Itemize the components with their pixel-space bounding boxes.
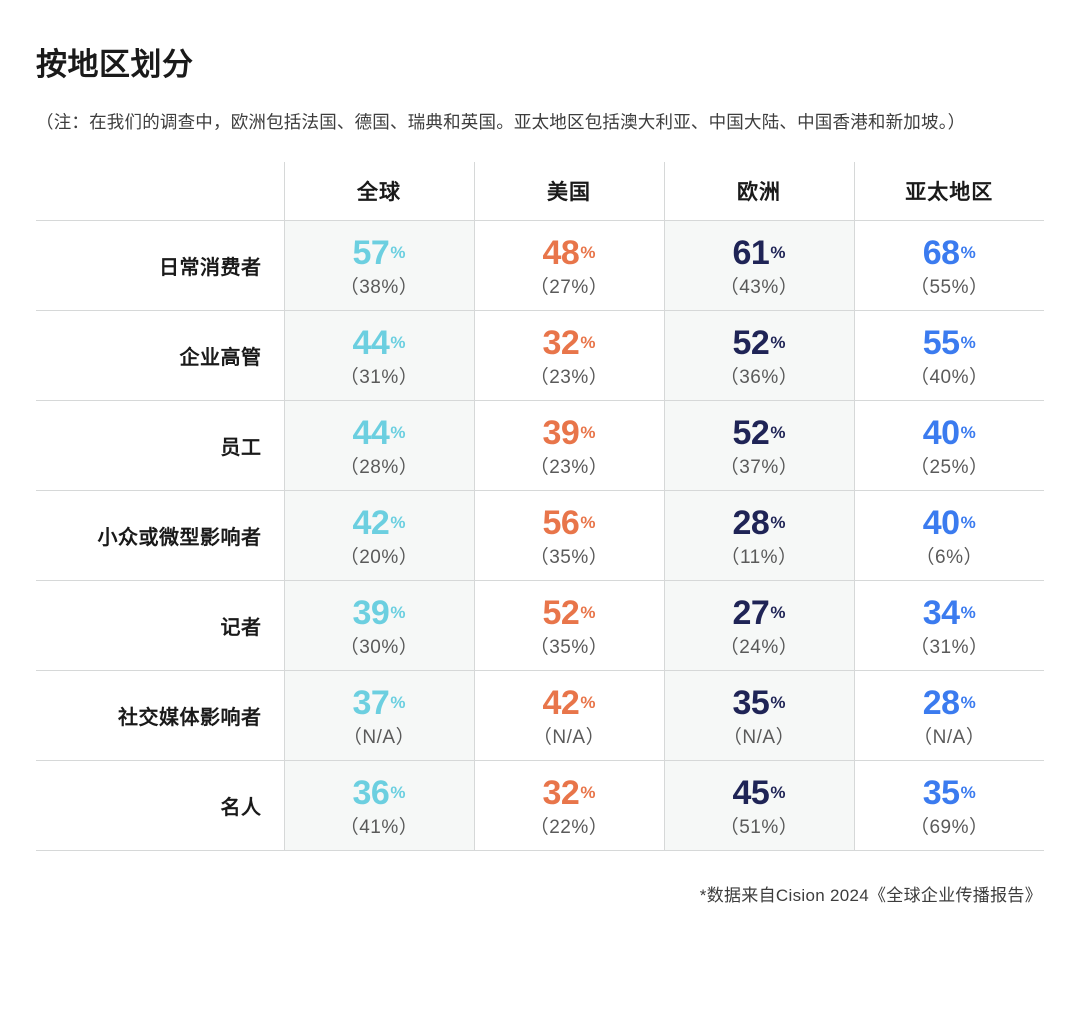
secondary-value: （31%）: [285, 368, 474, 387]
primary-value: 55%: [855, 326, 1045, 362]
table-row: 小众或微型影响者42%（20%）56%（35%）28%（11%）40%（6%）: [36, 490, 1044, 580]
table-row: 社交媒体影响者37%（N/A）42%（N/A）35%（N/A）28%（N/A）: [36, 670, 1044, 760]
primary-number: 35: [733, 684, 770, 722]
cell-global-1: 57%（38%）: [284, 220, 474, 310]
secondary-value: （20%）: [285, 548, 474, 567]
secondary-value: （38%）: [285, 278, 474, 297]
region-table-container: 全球 美国 欧洲 亚太地区 日常消费者57%（38%）48%（27%）61%（4…: [36, 162, 1044, 851]
percent-sign: %: [580, 783, 595, 802]
secondary-value: （37%）: [665, 458, 854, 477]
secondary-value: （22%）: [475, 818, 664, 837]
percent-sign: %: [390, 693, 405, 712]
cell-us-5: 52%（35%）: [474, 580, 664, 670]
cell-content: 42%（N/A）: [475, 680, 664, 751]
primary-number: 52: [543, 594, 580, 632]
primary-number: 35: [923, 774, 960, 812]
cell-content: 28%（N/A）: [855, 680, 1045, 751]
cell-us-6: 42%（N/A）: [474, 670, 664, 760]
cell-content: 68%（55%）: [855, 230, 1045, 301]
cell-content: 42%（20%）: [285, 500, 474, 571]
cell-content: 40%（25%）: [855, 410, 1045, 481]
cell-apac-7: 35%（69%）: [854, 760, 1044, 850]
percent-sign: %: [770, 423, 785, 442]
cell-europe-7: 45%（51%）: [664, 760, 854, 850]
primary-value: 37%: [285, 686, 474, 722]
percent-sign: %: [961, 783, 976, 802]
cell-global-4: 42%（20%）: [284, 490, 474, 580]
table-row: 企业高管44%（31%）32%（23%）52%（36%）55%（40%）: [36, 310, 1044, 400]
primary-value: 56%: [475, 506, 664, 542]
row-label-7: 名人: [36, 760, 284, 850]
percent-sign: %: [961, 693, 976, 712]
secondary-value: （43%）: [665, 278, 854, 297]
percent-sign: %: [961, 423, 976, 442]
primary-value: 44%: [285, 326, 474, 362]
primary-number: 34: [923, 594, 960, 632]
secondary-value: （27%）: [475, 278, 664, 297]
cell-content: 37%（N/A）: [285, 680, 474, 751]
row-label-6: 社交媒体影响者: [36, 670, 284, 760]
cell-content: 36%（41%）: [285, 770, 474, 841]
row-label-3: 员工: [36, 400, 284, 490]
cell-content: 39%（23%）: [475, 410, 664, 481]
secondary-value: （40%）: [855, 368, 1045, 387]
percent-sign: %: [580, 693, 595, 712]
row-label-4: 小众或微型影响者: [36, 490, 284, 580]
primary-number: 37: [353, 684, 390, 722]
secondary-value: （36%）: [665, 368, 854, 387]
primary-value: 44%: [285, 416, 474, 452]
row-label-5: 记者: [36, 580, 284, 670]
column-header-europe: 欧洲: [664, 162, 854, 221]
region-breakdown-table: 全球 美国 欧洲 亚太地区 日常消费者57%（38%）48%（27%）61%（4…: [36, 162, 1044, 851]
primary-number: 56: [543, 504, 580, 542]
column-header-global: 全球: [284, 162, 474, 221]
primary-number: 44: [353, 414, 390, 452]
percent-sign: %: [390, 513, 405, 532]
table-corner-cell: [36, 162, 284, 221]
cell-content: 34%（31%）: [855, 590, 1045, 661]
percent-sign: %: [770, 333, 785, 352]
secondary-value: （25%）: [855, 458, 1045, 477]
secondary-value: （23%）: [475, 458, 664, 477]
primary-number: 28: [733, 504, 770, 542]
percent-sign: %: [580, 513, 595, 532]
cell-content: 55%（40%）: [855, 320, 1045, 391]
primary-value: 57%: [285, 236, 474, 272]
primary-value: 32%: [475, 776, 664, 812]
methodology-note: （注：在我们的调查中，欧洲包括法国、德国、瑞典和英国。亚太地区包括澳大利亚、中国…: [36, 85, 1044, 140]
cell-content: 61%（43%）: [665, 230, 854, 301]
primary-value: 39%: [285, 596, 474, 632]
cell-content: 52%（37%）: [665, 410, 854, 481]
cell-content: 48%（27%）: [475, 230, 664, 301]
percent-sign: %: [390, 783, 405, 802]
column-header-us: 美国: [474, 162, 664, 221]
cell-global-3: 44%（28%）: [284, 400, 474, 490]
cell-europe-4: 28%（11%）: [664, 490, 854, 580]
table-header-row: 全球 美国 欧洲 亚太地区: [36, 162, 1044, 221]
cell-apac-6: 28%（N/A）: [854, 670, 1044, 760]
cell-content: 44%（31%）: [285, 320, 474, 391]
primary-value: 40%: [855, 506, 1045, 542]
cell-content: 32%（23%）: [475, 320, 664, 391]
secondary-value: （24%）: [665, 638, 854, 657]
primary-number: 42: [543, 684, 580, 722]
cell-europe-2: 52%（36%）: [664, 310, 854, 400]
table-header: 全球 美国 欧洲 亚太地区: [36, 162, 1044, 221]
cell-content: 52%（36%）: [665, 320, 854, 391]
table-row: 日常消费者57%（38%）48%（27%）61%（43%）68%（55%）: [36, 220, 1044, 310]
secondary-value: （11%）: [665, 548, 854, 567]
secondary-value: （N/A）: [665, 728, 854, 747]
primary-value: 52%: [665, 416, 854, 452]
primary-value: 61%: [665, 236, 854, 272]
primary-value: 40%: [855, 416, 1045, 452]
percent-sign: %: [580, 243, 595, 262]
secondary-value: （41%）: [285, 818, 474, 837]
primary-number: 40: [923, 504, 960, 542]
cell-apac-3: 40%（25%）: [854, 400, 1044, 490]
secondary-value: （N/A）: [475, 728, 664, 747]
primary-value: 52%: [665, 326, 854, 362]
primary-number: 68: [923, 234, 960, 272]
row-label-2: 企业高管: [36, 310, 284, 400]
percent-sign: %: [961, 603, 976, 622]
primary-value: 32%: [475, 326, 664, 362]
secondary-value: （N/A）: [855, 728, 1045, 747]
primary-number: 28: [923, 684, 960, 722]
cell-content: 35%（69%）: [855, 770, 1045, 841]
cell-content: 40%（6%）: [855, 500, 1045, 571]
cell-apac-5: 34%（31%）: [854, 580, 1044, 670]
percent-sign: %: [580, 603, 595, 622]
primary-number: 45: [733, 774, 770, 812]
table-row: 员工44%（28%）39%（23%）52%（37%）40%（25%）: [36, 400, 1044, 490]
secondary-value: （51%）: [665, 818, 854, 837]
source-footnote: *数据来自Cision 2024《全球企业传播报告》: [36, 851, 1044, 906]
cell-europe-1: 61%（43%）: [664, 220, 854, 310]
primary-number: 39: [353, 594, 390, 632]
percent-sign: %: [390, 243, 405, 262]
cell-apac-2: 55%（40%）: [854, 310, 1044, 400]
primary-number: 32: [543, 774, 580, 812]
percent-sign: %: [390, 333, 405, 352]
primary-value: 42%: [475, 686, 664, 722]
cell-content: 44%（28%）: [285, 410, 474, 481]
percent-sign: %: [961, 243, 976, 262]
primary-number: 44: [353, 324, 390, 362]
primary-number: 36: [353, 774, 390, 812]
percent-sign: %: [961, 333, 976, 352]
cell-content: 35%（N/A）: [665, 680, 854, 751]
cell-us-1: 48%（27%）: [474, 220, 664, 310]
cell-us-7: 32%（22%）: [474, 760, 664, 850]
cell-content: 28%（11%）: [665, 500, 854, 571]
primary-number: 55: [923, 324, 960, 362]
percent-sign: %: [770, 783, 785, 802]
primary-value: 45%: [665, 776, 854, 812]
secondary-value: （N/A）: [285, 728, 474, 747]
primary-value: 35%: [855, 776, 1045, 812]
cell-europe-3: 52%（37%）: [664, 400, 854, 490]
cell-content: 56%（35%）: [475, 500, 664, 571]
secondary-value: （55%）: [855, 278, 1045, 297]
page-title: 按地区划分: [36, 0, 1044, 85]
cell-content: 45%（51%）: [665, 770, 854, 841]
primary-value: 39%: [475, 416, 664, 452]
primary-number: 57: [353, 234, 390, 272]
cell-us-4: 56%（35%）: [474, 490, 664, 580]
primary-value: 52%: [475, 596, 664, 632]
primary-value: 42%: [285, 506, 474, 542]
cell-content: 39%（30%）: [285, 590, 474, 661]
primary-value: 28%: [665, 506, 854, 542]
cell-apac-1: 68%（55%）: [854, 220, 1044, 310]
percent-sign: %: [961, 513, 976, 532]
table-row: 记者39%（30%）52%（35%）27%（24%）34%（31%）: [36, 580, 1044, 670]
cell-us-2: 32%（23%）: [474, 310, 664, 400]
percent-sign: %: [580, 333, 595, 352]
cell-europe-5: 27%（24%）: [664, 580, 854, 670]
cell-global-5: 39%（30%）: [284, 580, 474, 670]
primary-number: 40: [923, 414, 960, 452]
primary-number: 42: [353, 504, 390, 542]
secondary-value: （28%）: [285, 458, 474, 477]
percent-sign: %: [770, 693, 785, 712]
secondary-value: （23%）: [475, 368, 664, 387]
percent-sign: %: [390, 423, 405, 442]
primary-number: 39: [543, 414, 580, 452]
cell-global-2: 44%（31%）: [284, 310, 474, 400]
percent-sign: %: [770, 513, 785, 532]
primary-number: 27: [733, 594, 770, 632]
table-body: 日常消费者57%（38%）48%（27%）61%（43%）68%（55%）企业高…: [36, 220, 1044, 850]
cell-global-7: 36%（41%）: [284, 760, 474, 850]
column-header-apac: 亚太地区: [854, 162, 1044, 221]
cell-content: 32%（22%）: [475, 770, 664, 841]
cell-global-6: 37%（N/A）: [284, 670, 474, 760]
row-label-1: 日常消费者: [36, 220, 284, 310]
primary-value: 48%: [475, 236, 664, 272]
primary-value: 68%: [855, 236, 1045, 272]
secondary-value: （31%）: [855, 638, 1045, 657]
primary-value: 34%: [855, 596, 1045, 632]
cell-content: 57%（38%）: [285, 230, 474, 301]
primary-value: 27%: [665, 596, 854, 632]
secondary-value: （30%）: [285, 638, 474, 657]
page-root: 按地区划分 （注：在我们的调查中，欧洲包括法国、德国、瑞典和英国。亚太地区包括澳…: [0, 0, 1080, 1016]
percent-sign: %: [770, 603, 785, 622]
cell-us-3: 39%（23%）: [474, 400, 664, 490]
secondary-value: （35%）: [475, 638, 664, 657]
cell-content: 27%（24%）: [665, 590, 854, 661]
cell-europe-6: 35%（N/A）: [664, 670, 854, 760]
table-row: 名人36%（41%）32%（22%）45%（51%）35%（69%）: [36, 760, 1044, 850]
primary-number: 52: [733, 324, 770, 362]
primary-number: 32: [543, 324, 580, 362]
cell-apac-4: 40%（6%）: [854, 490, 1044, 580]
percent-sign: %: [580, 423, 595, 442]
cell-content: 52%（35%）: [475, 590, 664, 661]
primary-number: 48: [543, 234, 580, 272]
primary-value: 36%: [285, 776, 474, 812]
primary-value: 28%: [855, 686, 1045, 722]
percent-sign: %: [390, 603, 405, 622]
primary-number: 52: [733, 414, 770, 452]
primary-value: 35%: [665, 686, 854, 722]
secondary-value: （6%）: [855, 548, 1045, 567]
primary-number: 61: [733, 234, 770, 272]
secondary-value: （35%）: [475, 548, 664, 567]
secondary-value: （69%）: [855, 818, 1045, 837]
percent-sign: %: [770, 243, 785, 262]
